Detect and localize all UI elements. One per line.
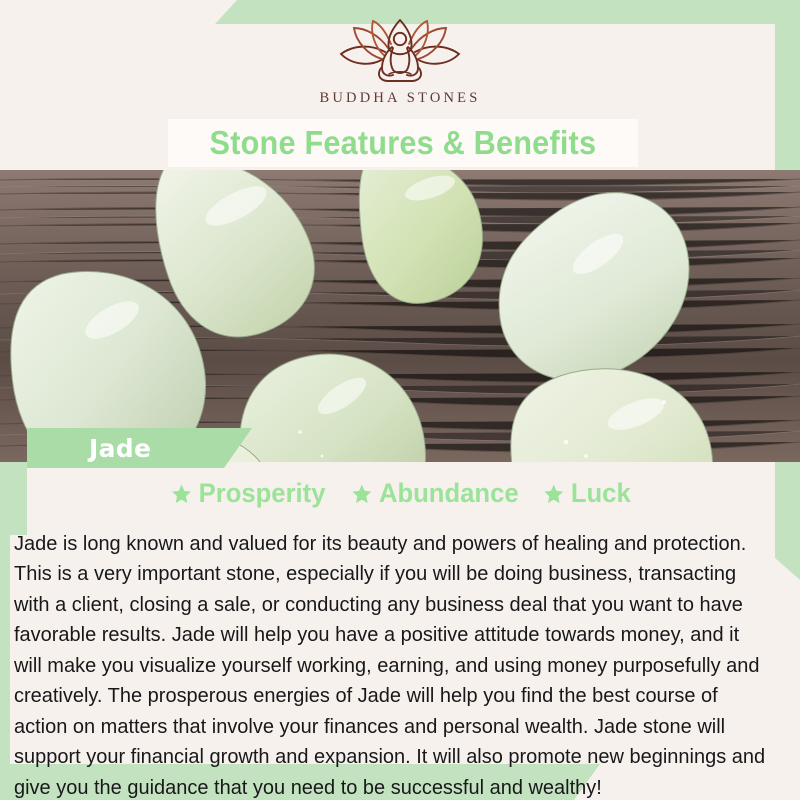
brand-logo: BUDDHA STONES xyxy=(0,18,800,107)
benefit-item: Abundance xyxy=(352,478,519,509)
star-icon xyxy=(544,483,565,505)
poster-root: BUDDHA STONES xyxy=(0,0,800,800)
page-title: Stone Features & Benefits xyxy=(210,124,597,162)
benefit-label: Prosperity xyxy=(198,478,325,509)
brand-name: BUDDHA STONES xyxy=(320,90,481,107)
benefit-label: Abundance xyxy=(379,478,519,509)
benefits-row: Prosperity Abundance Luck xyxy=(0,478,800,509)
benefit-item: Luck xyxy=(544,478,631,509)
stone-label-band: Jade xyxy=(27,428,252,468)
star-icon xyxy=(171,483,192,505)
page-title-band: Stone Features & Benefits xyxy=(168,119,638,167)
benefit-item: Prosperity xyxy=(171,478,325,509)
stone-photo xyxy=(0,170,800,462)
star-icon xyxy=(352,483,373,505)
benefit-label: Luck xyxy=(571,478,631,509)
stone-name: Jade xyxy=(89,434,151,463)
decor-rail-left xyxy=(0,505,10,767)
lotus-meditation-icon xyxy=(325,18,475,84)
stone-description: Jade is long known and valued for its be… xyxy=(14,529,767,800)
